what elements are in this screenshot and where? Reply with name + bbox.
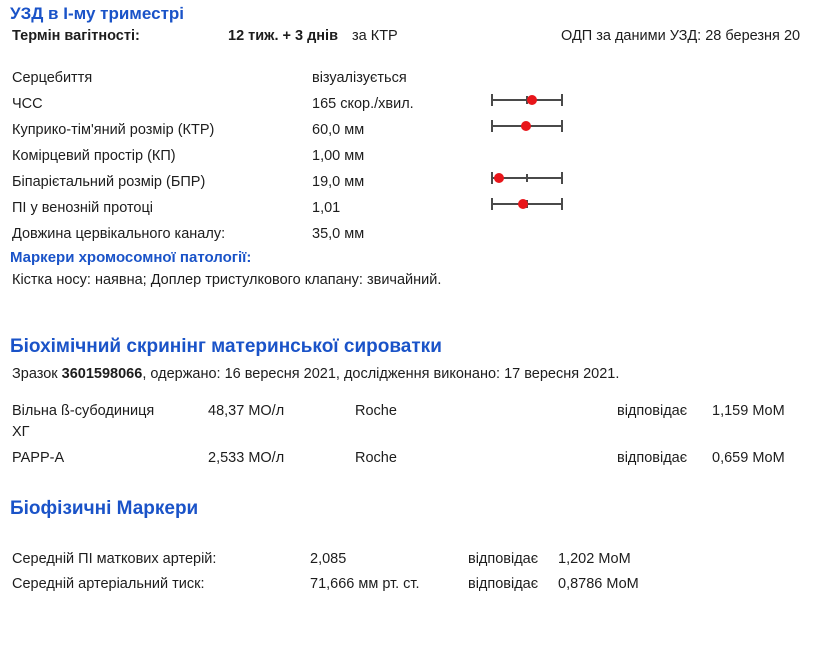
biochemistry-heading: Біохімічний скринінг материнської сирова… (10, 336, 442, 358)
sample-line: Зразок 3601598066, одержано: 16 вересня … (12, 367, 619, 382)
measurement-label: Серцебиття (12, 71, 92, 86)
range-cap-left (491, 120, 493, 132)
measurement-value: 1,00 мм (312, 149, 364, 164)
sample-prefix: Зразок (12, 366, 58, 382)
sample-suffix: , одержано: 16 вересня 2021, дослідження… (142, 366, 619, 382)
range-cap-right (561, 198, 563, 210)
biochem-correspondence: відповідає (617, 451, 687, 466)
biochem-correspondence: відповідає (617, 404, 687, 419)
reference-range-marker (489, 197, 565, 211)
biochem-kit: Roche (355, 451, 397, 466)
gestational-age-value: 12 тиж. + 3 днів (228, 29, 338, 44)
biochem-analyte-name: Вільна ß-субодиниця (12, 404, 154, 419)
reference-range-marker (489, 93, 565, 107)
biochem-analyte-name: PAPP-A (12, 451, 64, 466)
biophysical-mom: 0,8786 МоМ (558, 577, 639, 592)
reference-range-marker (489, 171, 565, 185)
biophysical-label: Середній ПІ маткових артерій: (12, 552, 216, 567)
measurement-value: 19,0 мм (312, 175, 364, 190)
measurement-label: ПІ у венозній протоці (12, 201, 153, 216)
range-midpoint-tick (526, 174, 528, 182)
ultrasound-section-title: УЗД в I-му триместрі (10, 4, 184, 24)
biochem-analyte-name-line2: ХГ (12, 425, 30, 440)
measurement-value: візуалізується (312, 71, 407, 86)
measurement-label: ЧСС (12, 97, 43, 112)
gestational-age-label: Термін вагітності: (12, 29, 140, 44)
range-cap-right (561, 172, 563, 184)
measurement-value: 165 скор./хвил. (312, 97, 414, 112)
range-cap-right (561, 94, 563, 106)
biochem-mom: 1,159 МоМ (712, 404, 785, 419)
biophysical-heading: Біофізичні Маркери (10, 498, 198, 520)
biophysical-correspondence: відповідає (468, 552, 538, 567)
chromosomal-markers-heading: Маркери хромосомної патології: (10, 249, 251, 266)
biophysical-value: 71,666 мм рт. ст. (310, 577, 420, 592)
chromosomal-markers-text: Кістка носу: наявна; Доплер тристулковог… (12, 273, 441, 288)
measurement-label: Куприко-тім'яний розмір (КТР) (12, 123, 214, 138)
range-cap-right (561, 120, 563, 132)
biochem-value: 48,37 МО/л (208, 404, 284, 419)
measurement-value-dot (527, 95, 537, 105)
biophysical-value: 2,085 (310, 552, 346, 567)
reference-range-marker (489, 119, 565, 133)
biophysical-mom: 1,202 МоМ (558, 552, 631, 567)
range-cap-left (491, 198, 493, 210)
measurement-label: Біпарієтальний розмір (БПР) (12, 175, 205, 190)
range-cap-left (491, 94, 493, 106)
range-cap-left (491, 172, 493, 184)
gestational-age-method: за КТР (352, 29, 398, 44)
estimated-due-date: ОДП за даними УЗД: 28 березня 20 (561, 29, 800, 44)
measurement-value-dot (521, 121, 531, 131)
measurement-value: 60,0 мм (312, 123, 364, 138)
measurement-label: Довжина цервікального каналу: (12, 227, 225, 242)
report-page: УЗД в I-му триместрі Термін вагітності: … (0, 0, 828, 657)
sample-number: 3601598066 (62, 366, 143, 382)
biochem-value: 2,533 МО/л (208, 451, 284, 466)
biochem-kit: Roche (355, 404, 397, 419)
biochem-mom: 0,659 МоМ (712, 451, 785, 466)
measurement-value: 1,01 (312, 201, 340, 216)
biophysical-label: Середній артеріальний тиск: (12, 577, 204, 592)
measurement-value-dot (494, 173, 504, 183)
measurement-value: 35,0 мм (312, 227, 364, 242)
measurement-label: Комірцевий простір (КП) (12, 149, 176, 164)
biophysical-correspondence: відповідає (468, 577, 538, 592)
